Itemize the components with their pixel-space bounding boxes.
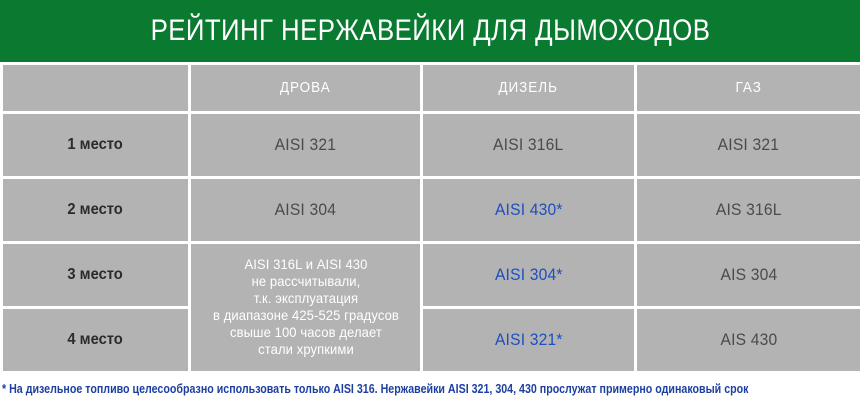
rank-cell-3: 3 место bbox=[3, 244, 188, 306]
value-cell-wood-1: AISI 321 bbox=[191, 114, 420, 176]
value-diesel-2: AISI 430* bbox=[495, 200, 563, 220]
value-cell-diesel-3: AISI 304* bbox=[423, 244, 634, 306]
rank-cell-2: 2 место bbox=[3, 179, 188, 241]
rank-label-2: 2 место bbox=[68, 201, 123, 219]
value-cell-wood-2: AISI 304 bbox=[191, 179, 420, 241]
table-row: 3 место AISI 316L и AISI 430 не рассчиты… bbox=[3, 244, 860, 306]
value-cell-gas-4: AIS 430 bbox=[637, 309, 860, 371]
table-row: 4 место AISI 321* AIS 430 bbox=[3, 309, 860, 371]
value-cell-gas-1: AISI 321 bbox=[637, 114, 860, 176]
rank-cell-1: 1 место bbox=[3, 114, 188, 176]
value-gas-4: AIS 430 bbox=[720, 330, 777, 350]
rating-table-wrapper: ДРОВА ДИЗЕЛЬ ГАЗ 1 место AISI 321 bbox=[0, 62, 860, 377]
value-diesel-3: AISI 304* bbox=[495, 265, 563, 285]
header-cell-diesel: ДИЗЕЛЬ bbox=[423, 65, 634, 111]
rank-label-4: 4 место bbox=[68, 331, 123, 349]
header-label-diesel: ДИЗЕЛЬ bbox=[499, 79, 559, 96]
rank-label-3: 3 место bbox=[68, 266, 123, 284]
value-gas-1: AISI 321 bbox=[718, 135, 779, 155]
footnote: * На дизельное топливо целесообразно исп… bbox=[0, 377, 860, 401]
merged-note-text: AISI 316L и AISI 430 не рассчитывали, т.… bbox=[213, 256, 399, 358]
page-title: РЕЙТИНГ НЕРЖАВЕЙКИ ДЛЯ ДЫМОХОДОВ bbox=[150, 16, 710, 46]
value-gas-2: AIS 316L bbox=[716, 200, 782, 220]
value-cell-gas-3: AIS 304 bbox=[637, 244, 860, 306]
value-wood-1: AISI 321 bbox=[275, 135, 336, 155]
merged-note-cell-wood: AISI 316L и AISI 430 не рассчитывали, т.… bbox=[191, 244, 420, 371]
table-row: 1 место AISI 321 AISI 316L AISI 321 bbox=[3, 114, 860, 176]
footnote-text: * На дизельное топливо целесообразно исп… bbox=[2, 382, 748, 396]
value-cell-diesel-2: AISI 430* bbox=[423, 179, 634, 241]
header-cell-blank bbox=[3, 65, 188, 111]
header-cell-gas: ГАЗ bbox=[637, 65, 860, 111]
header-label-gas: ГАЗ bbox=[735, 79, 761, 96]
table-header-row: ДРОВА ДИЗЕЛЬ ГАЗ bbox=[3, 65, 860, 111]
value-diesel-4: AISI 321* bbox=[495, 330, 563, 350]
header-cell-wood: ДРОВА bbox=[191, 65, 420, 111]
header-label-wood: ДРОВА bbox=[280, 79, 331, 96]
infographic-root: РЕЙТИНГ НЕРЖАВЕЙКИ ДЛЯ ДЫМОХОДОВ ДРОВА Д… bbox=[0, 0, 860, 401]
rank-label-1: 1 место bbox=[68, 136, 123, 154]
value-gas-3: AIS 304 bbox=[720, 265, 777, 285]
title-banner: РЕЙТИНГ НЕРЖАВЕЙКИ ДЛЯ ДЫМОХОДОВ bbox=[0, 0, 860, 62]
value-cell-diesel-1: AISI 316L bbox=[423, 114, 634, 176]
rank-cell-4: 4 место bbox=[3, 309, 188, 371]
value-diesel-1: AISI 316L bbox=[493, 135, 563, 155]
table-row: 2 место AISI 304 AISI 430* AIS 316L bbox=[3, 179, 860, 241]
value-cell-gas-2: AIS 316L bbox=[637, 179, 860, 241]
rating-table: ДРОВА ДИЗЕЛЬ ГАЗ 1 место AISI 321 bbox=[0, 62, 860, 374]
value-cell-diesel-4: AISI 321* bbox=[423, 309, 634, 371]
value-wood-2: AISI 304 bbox=[275, 200, 336, 220]
